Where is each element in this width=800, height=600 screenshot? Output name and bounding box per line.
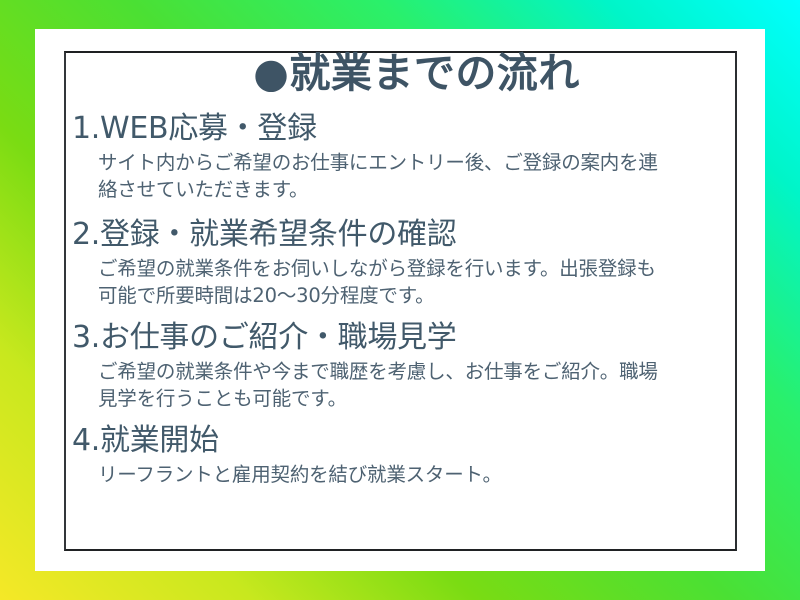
- step-body-line: サイト内からご希望のお仕事にエントリー後、ご登録の案内を連: [98, 149, 777, 177]
- step-body-1: サイト内からご希望のお仕事にエントリー後、ご登録の案内を連 絡させていただきます…: [72, 149, 777, 204]
- white-card: ●就業までの流れ 1.WEB応募・登録 サイト内からご希望のお仕事にエントリー後…: [35, 29, 765, 571]
- step-item-4: 4.就業開始 リーフラントと雇用契約を結び就業スタート。: [72, 423, 777, 488]
- step-body-line: 見学を行うことも可能です。: [98, 385, 777, 413]
- step-heading-1: 1.WEB応募・登録: [72, 111, 777, 148]
- step-body-2: ご希望の就業条件をお伺いしながら登録を行います。出張登録も 可能で所要時間は20…: [72, 255, 777, 310]
- page-title: ●就業までの流れ: [56, 53, 777, 94]
- step-body-line: 可能で所要時間は20〜30分程度です。: [98, 282, 777, 310]
- step-item-3: 3.お仕事のご紹介・職場見学 ご希望の就業条件や今まで職歴を考慮し、お仕事をご紹…: [72, 320, 777, 413]
- step-body-line: リーフラントと雇用契約を結び就業スタート。: [98, 461, 777, 489]
- step-body-line: ご希望の就業条件や今まで職歴を考慮し、お仕事をご紹介。職場: [98, 358, 777, 386]
- step-body-3: ご希望の就業条件や今まで職歴を考慮し、お仕事をご紹介。職場 見学を行うことも可能…: [72, 358, 777, 413]
- step-body-line: ご希望の就業条件をお伺いしながら登録を行います。出張登録も: [98, 255, 777, 283]
- steps-list: 1.WEB応募・登録 サイト内からご希望のお仕事にエントリー後、ご登録の案内を連…: [72, 111, 777, 488]
- step-heading-3: 3.お仕事のご紹介・職場見学: [72, 320, 777, 357]
- step-body-line: 絡させていただきます。: [98, 176, 777, 204]
- flow-content: ●就業までの流れ 1.WEB応募・登録 サイト内からご希望のお仕事にエントリー後…: [72, 53, 777, 488]
- step-item-1: 1.WEB応募・登録 サイト内からご希望のお仕事にエントリー後、ご登録の案内を連…: [72, 111, 777, 204]
- step-heading-4: 4.就業開始: [72, 423, 777, 460]
- step-body-4: リーフラントと雇用契約を結び就業スタート。: [72, 461, 777, 489]
- step-item-2: 2.登録・就業希望条件の確認 ご希望の就業条件をお伺いしながら登録を行います。出…: [72, 217, 777, 310]
- step-heading-2: 2.登録・就業希望条件の確認: [72, 217, 777, 254]
